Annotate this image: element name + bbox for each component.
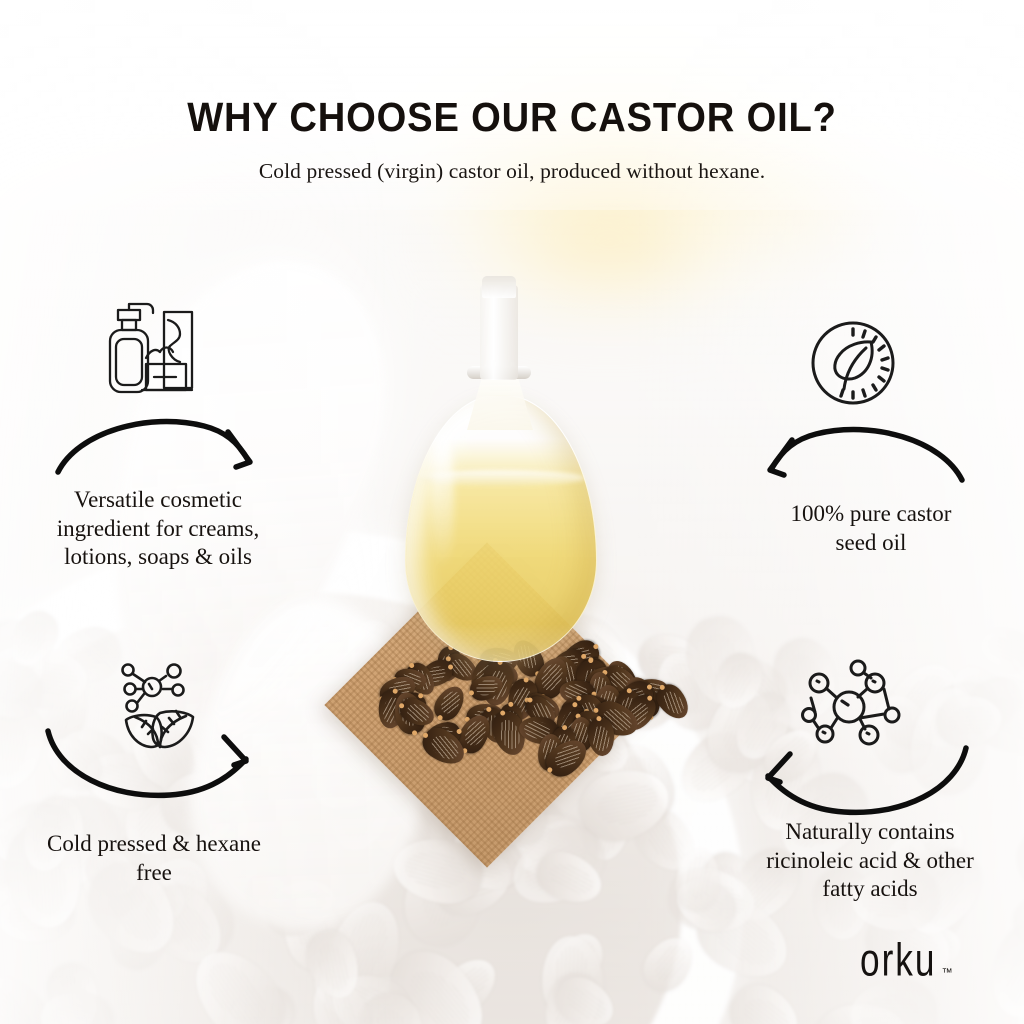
feature-label: Cold pressed & hexane free xyxy=(4,830,304,887)
feature-pure-castor-seed-oil: 100% pure castor seed oil xyxy=(726,500,1016,557)
cosmetics-bottles-icon xyxy=(88,290,206,411)
feature-label: Versatile cosmetic ingredient for creams… xyxy=(8,486,308,572)
curved-arrow-top-left xyxy=(52,410,282,495)
page-title: WHY CHOOSE OUR CASTOR OIL? xyxy=(36,94,988,141)
feature-label: Naturally contains ricinoleic acid & oth… xyxy=(722,818,1018,904)
infographic-canvas: WHY CHOOSE OUR CASTOR OIL? Cold pressed … xyxy=(0,0,1024,1024)
feature-label: 100% pure castor seed oil xyxy=(726,500,1016,557)
curved-arrow-top-right xyxy=(738,418,968,503)
trademark-symbol: ™ xyxy=(942,967,953,979)
feature-versatile-cosmetic: Versatile cosmetic ingredient for creams… xyxy=(8,486,308,572)
feature-cold-pressed-hexane-free: Cold pressed & hexane free xyxy=(4,830,304,887)
brand-name: orku xyxy=(860,937,936,984)
leaf-badge-icon xyxy=(803,313,903,418)
brand-logo: orku ™ xyxy=(860,928,990,984)
curved-arrow-bottom-left xyxy=(38,725,278,822)
feature-ricinoleic-acid: Naturally contains ricinoleic acid & oth… xyxy=(722,818,1018,904)
page-subtitle: Cold pressed (virgin) castor oil, produc… xyxy=(0,159,1024,184)
